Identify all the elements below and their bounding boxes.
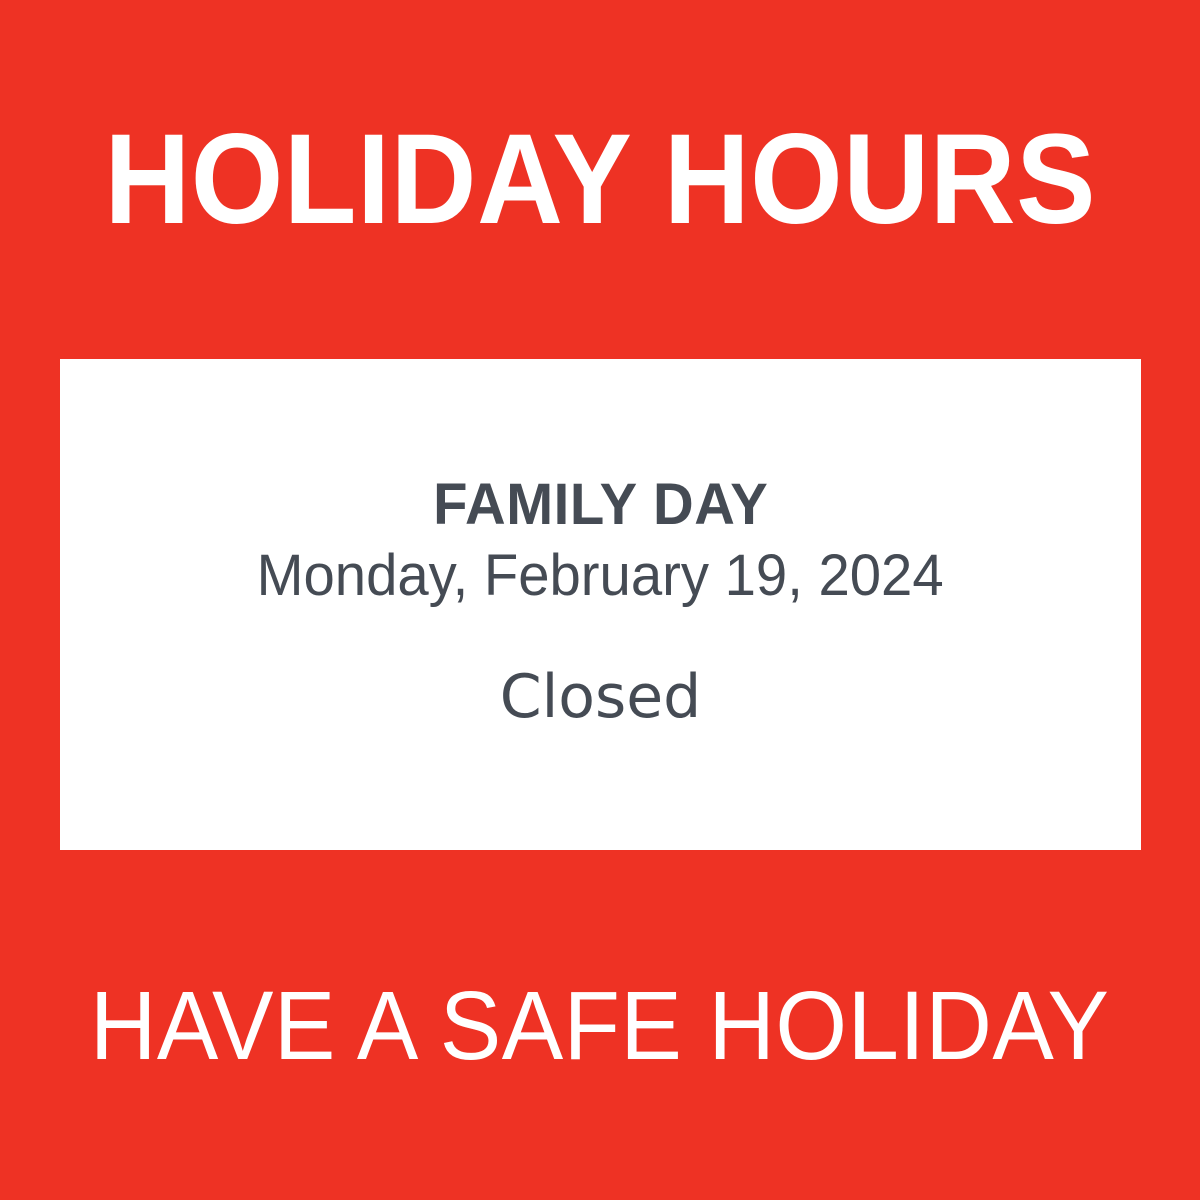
status-badge: Closed (500, 664, 702, 730)
holiday-hours-poster: HOLIDAY HOURS FAMILY DAY Monday, Februar… (0, 0, 1200, 1200)
page-title: HOLIDAY HOURS (104, 116, 1096, 244)
holiday-name: FAMILY DAY (433, 473, 768, 538)
holiday-notice-content: FAMILY DAY Monday, February 19, 2024 Clo… (60, 473, 1141, 737)
headline-banner: HOLIDAY HOURS (0, 0, 1200, 359)
holiday-notice-card: FAMILY DAY Monday, February 19, 2024 Clo… (60, 359, 1141, 850)
footer-message: HAVE A SAFE HOLIDAY (90, 977, 1110, 1074)
holiday-date: Monday, February 19, 2024 (257, 544, 944, 609)
footer-banner: HAVE A SAFE HOLIDAY (0, 850, 1200, 1200)
